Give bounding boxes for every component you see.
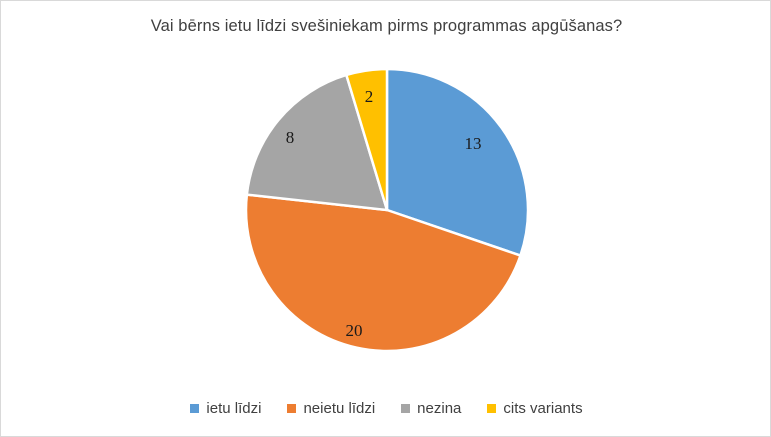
legend-swatch-nezina — [401, 404, 410, 413]
pie-plot-area: 132082 — [1, 1, 771, 437]
legend-label-3: cits variants — [503, 400, 582, 417]
pie-chart-graphic — [1, 1, 771, 437]
legend-item-2[interactable]: nezina — [401, 400, 461, 417]
legend-item-1[interactable]: neietu līdzi — [287, 400, 375, 417]
legend-label-2: nezina — [417, 400, 461, 417]
pie-slice-group — [246, 69, 528, 351]
legend-item-0[interactable]: ietu līdzi — [190, 400, 261, 417]
chart-container: Vai bērns ietu līdzi svešiniekam pirms p… — [0, 0, 771, 437]
chart-legend: ietu līdzineietu līdzinezinacits variant… — [1, 400, 771, 417]
legend-label-1: neietu līdzi — [303, 400, 375, 417]
legend-swatch-neietu-lidzi — [287, 404, 296, 413]
legend-item-3[interactable]: cits variants — [487, 400, 582, 417]
legend-label-0: ietu līdzi — [206, 400, 261, 417]
legend-swatch-ietu-lidzi — [190, 404, 199, 413]
legend-swatch-cits-variants — [487, 404, 496, 413]
